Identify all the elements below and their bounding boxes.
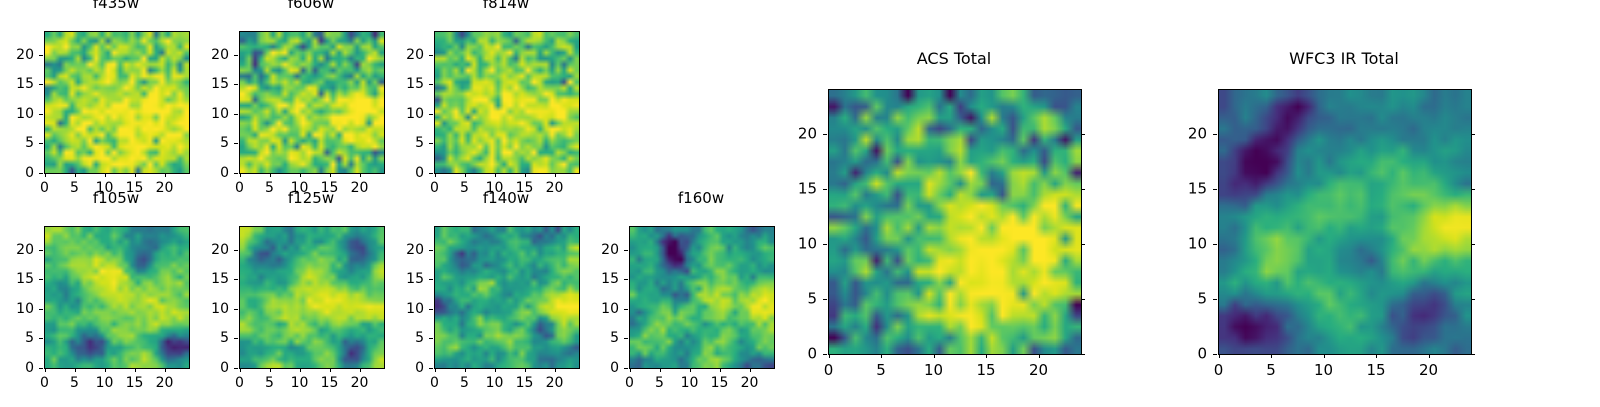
heatmap-canvas-f140w — [435, 227, 579, 368]
x-tick-label-f125w-20: 20 — [351, 376, 369, 390]
y-tick-right-acs-total-10 — [1081, 244, 1085, 245]
y-tick-label-f435w-15: 15 — [0, 77, 34, 91]
heatmap-canvas-f435w — [45, 32, 189, 173]
x-tick-label-wfc3-ir-total-0: 0 — [1214, 363, 1224, 378]
y-tick-f140w-10 — [429, 309, 433, 310]
y-tick-f160w-5 — [624, 338, 628, 339]
y-tick-label-f606w-15: 15 — [179, 77, 229, 91]
heatmap-canvas-f105w — [45, 227, 189, 368]
x-tick-label-f160w-15: 15 — [711, 376, 729, 390]
x-tick-label-f160w-10: 10 — [681, 376, 699, 390]
x-tick-f435w-0 — [45, 173, 46, 177]
y-tick-label-f125w-10: 10 — [179, 302, 229, 316]
y-tick-label-f435w-10: 10 — [0, 107, 34, 121]
panel-f814w: f814w0510152005101520 — [374, 0, 638, 212]
x-tick-label-f140w-20: 20 — [546, 376, 564, 390]
y-tick-label-acs-total-5: 5 — [768, 291, 817, 306]
x-tick-acs-total-15 — [986, 354, 987, 358]
x-tick-f105w-10 — [105, 368, 106, 372]
heatmap-canvas-acs-total — [829, 90, 1081, 354]
x-tick-f160w-20 — [750, 368, 751, 372]
panel-title-wfc3-ir-total: WFC3 IR Total — [1158, 51, 1530, 67]
x-tick-label-f105w-10: 10 — [96, 376, 114, 390]
y-tick-label-f606w-5: 5 — [179, 136, 229, 150]
y-tick-label-f606w-10: 10 — [179, 107, 229, 121]
panel-title-acs-total: ACS Total — [768, 51, 1140, 67]
y-tick-right-wfc3-ir-total-10 — [1471, 244, 1475, 245]
y-tick-label-acs-total-10: 10 — [768, 236, 817, 251]
x-tick-f435w-10 — [105, 173, 106, 177]
heatmap-wfc3-ir-total — [1218, 89, 1472, 355]
x-tick-label-acs-total-5: 5 — [876, 363, 886, 378]
y-tick-f814w-10 — [429, 114, 433, 115]
y-tick-f435w-20 — [39, 55, 43, 56]
y-tick-right-wfc3-ir-total-15 — [1471, 189, 1475, 190]
y-tick-wfc3-ir-total-15 — [1213, 189, 1217, 190]
y-tick-label-f125w-20: 20 — [179, 243, 229, 257]
y-tick-right-wfc3-ir-total-5 — [1471, 299, 1475, 300]
y-tick-right-acs-total-5 — [1081, 299, 1085, 300]
x-tick-label-wfc3-ir-total-5: 5 — [1266, 363, 1276, 378]
x-tick-label-f160w-20: 20 — [741, 376, 759, 390]
x-tick-f606w-20 — [360, 173, 361, 177]
x-tick-f140w-15 — [525, 368, 526, 372]
x-tick-label-f105w-15: 15 — [126, 376, 144, 390]
y-tick-f160w-0 — [624, 368, 628, 369]
y-tick-label-f105w-5: 5 — [0, 331, 34, 345]
y-tick-f606w-5 — [234, 143, 238, 144]
y-tick-acs-total-0 — [823, 354, 827, 355]
heatmap-f606w — [239, 31, 385, 174]
x-tick-wfc3-ir-total-15 — [1376, 354, 1377, 358]
x-tick-f125w-10 — [300, 368, 301, 372]
y-tick-f125w-5 — [234, 338, 238, 339]
x-tick-wfc3-ir-total-20 — [1429, 354, 1430, 358]
y-tick-right-wfc3-ir-total-20 — [1471, 134, 1475, 135]
x-tick-acs-total-20 — [1039, 354, 1040, 358]
heatmap-f814w — [434, 31, 580, 174]
y-tick-f105w-0 — [39, 368, 43, 369]
y-tick-label-f606w-0: 0 — [179, 166, 229, 180]
y-tick-label-f814w-0: 0 — [374, 166, 424, 180]
y-tick-f105w-20 — [39, 250, 43, 251]
y-tick-label-f435w-0: 0 — [0, 166, 34, 180]
x-tick-f160w-0 — [630, 368, 631, 372]
y-tick-label-wfc3-ir-total-5: 5 — [1158, 291, 1207, 306]
x-tick-f140w-5 — [465, 368, 466, 372]
x-tick-f160w-5 — [660, 368, 661, 372]
x-tick-f606w-0 — [240, 173, 241, 177]
y-tick-label-f140w-10: 10 — [374, 302, 424, 316]
y-tick-f606w-20 — [234, 55, 238, 56]
y-tick-f814w-20 — [429, 55, 433, 56]
x-tick-label-f160w-5: 5 — [655, 376, 664, 390]
panel-wfc3-ir-total: WFC3 IR Total0510152005101520 — [1158, 51, 1530, 393]
x-tick-label-f140w-10: 10 — [486, 376, 504, 390]
y-tick-label-acs-total-0: 0 — [768, 346, 817, 361]
y-tick-label-f125w-0: 0 — [179, 361, 229, 375]
x-tick-f160w-10 — [690, 368, 691, 372]
y-tick-f814w-15 — [429, 84, 433, 85]
y-tick-label-wfc3-ir-total-0: 0 — [1158, 346, 1207, 361]
y-tick-acs-total-5 — [823, 299, 827, 300]
y-tick-f160w-15 — [624, 279, 628, 280]
x-tick-f105w-0 — [45, 368, 46, 372]
heatmap-f160w — [629, 226, 775, 369]
y-tick-f140w-20 — [429, 250, 433, 251]
x-tick-f606w-5 — [270, 173, 271, 177]
x-tick-label-wfc3-ir-total-15: 15 — [1366, 363, 1385, 378]
x-tick-f125w-0 — [240, 368, 241, 372]
y-tick-wfc3-ir-total-10 — [1213, 244, 1217, 245]
heatmap-acs-total — [828, 89, 1082, 355]
y-tick-label-f105w-0: 0 — [0, 361, 34, 375]
y-tick-label-wfc3-ir-total-20: 20 — [1158, 126, 1207, 141]
y-tick-f160w-10 — [624, 309, 628, 310]
x-tick-f125w-15 — [330, 368, 331, 372]
x-tick-f814w-10 — [495, 173, 496, 177]
panel-title-f814w: f814w — [374, 0, 638, 11]
y-tick-label-f125w-5: 5 — [179, 331, 229, 345]
x-tick-label-f105w-20: 20 — [156, 376, 174, 390]
x-tick-label-f140w-5: 5 — [460, 376, 469, 390]
y-tick-label-f140w-15: 15 — [374, 272, 424, 286]
y-tick-label-f814w-15: 15 — [374, 77, 424, 91]
x-tick-f125w-5 — [270, 368, 271, 372]
y-tick-label-f140w-5: 5 — [374, 331, 424, 345]
y-tick-label-f105w-15: 15 — [0, 272, 34, 286]
y-tick-acs-total-10 — [823, 244, 827, 245]
y-tick-f435w-0 — [39, 173, 43, 174]
x-tick-label-f125w-5: 5 — [265, 376, 274, 390]
y-tick-label-f160w-20: 20 — [569, 243, 619, 257]
y-tick-label-f140w-0: 0 — [374, 361, 424, 375]
heatmap-f140w — [434, 226, 580, 369]
x-tick-label-acs-total-0: 0 — [824, 363, 834, 378]
y-tick-f606w-10 — [234, 114, 238, 115]
x-tick-f606w-10 — [300, 173, 301, 177]
x-tick-f105w-20 — [165, 368, 166, 372]
y-tick-right-acs-total-15 — [1081, 189, 1085, 190]
y-tick-f606w-15 — [234, 84, 238, 85]
y-tick-label-f814w-10: 10 — [374, 107, 424, 121]
x-tick-label-f125w-0: 0 — [235, 376, 244, 390]
heatmap-canvas-f125w — [240, 227, 384, 368]
x-tick-label-acs-total-15: 15 — [976, 363, 995, 378]
x-tick-f125w-20 — [360, 368, 361, 372]
x-tick-f105w-15 — [135, 368, 136, 372]
y-tick-wfc3-ir-total-0 — [1213, 354, 1217, 355]
y-tick-right-wfc3-ir-total-0 — [1471, 354, 1475, 355]
y-tick-acs-total-15 — [823, 189, 827, 190]
y-tick-label-f606w-20: 20 — [179, 48, 229, 62]
y-tick-f125w-20 — [234, 250, 238, 251]
y-tick-f140w-15 — [429, 279, 433, 280]
y-tick-f435w-10 — [39, 114, 43, 115]
y-tick-label-f160w-0: 0 — [569, 361, 619, 375]
heatmap-canvas-f814w — [435, 32, 579, 173]
y-tick-label-f105w-20: 20 — [0, 243, 34, 257]
x-tick-f435w-20 — [165, 173, 166, 177]
heatmap-canvas-wfc3-ir-total — [1219, 90, 1471, 354]
x-tick-label-f105w-0: 0 — [40, 376, 49, 390]
x-tick-f814w-20 — [555, 173, 556, 177]
y-tick-label-f814w-20: 20 — [374, 48, 424, 62]
y-tick-f140w-0 — [429, 368, 433, 369]
y-tick-label-wfc3-ir-total-15: 15 — [1158, 181, 1207, 196]
x-tick-f160w-15 — [720, 368, 721, 372]
x-tick-f140w-20 — [555, 368, 556, 372]
y-tick-label-f160w-5: 5 — [569, 331, 619, 345]
y-tick-f435w-5 — [39, 143, 43, 144]
y-tick-f606w-0 — [234, 173, 238, 174]
y-tick-f814w-5 — [429, 143, 433, 144]
x-tick-wfc3-ir-total-0 — [1219, 354, 1220, 358]
x-tick-f814w-15 — [525, 173, 526, 177]
heatmap-canvas-f160w — [630, 227, 774, 368]
x-tick-label-wfc3-ir-total-20: 20 — [1419, 363, 1438, 378]
y-tick-label-acs-total-15: 15 — [768, 181, 817, 196]
y-tick-f160w-20 — [624, 250, 628, 251]
x-tick-acs-total-10 — [934, 354, 935, 358]
y-tick-f125w-0 — [234, 368, 238, 369]
x-tick-wfc3-ir-total-10 — [1324, 354, 1325, 358]
y-tick-label-f435w-5: 5 — [0, 136, 34, 150]
x-tick-label-acs-total-20: 20 — [1029, 363, 1048, 378]
y-tick-f435w-15 — [39, 84, 43, 85]
x-tick-acs-total-5 — [881, 354, 882, 358]
x-tick-f606w-15 — [330, 173, 331, 177]
x-tick-f140w-0 — [435, 368, 436, 372]
y-tick-label-acs-total-20: 20 — [768, 126, 817, 141]
heatmap-f125w — [239, 226, 385, 369]
x-tick-label-wfc3-ir-total-10: 10 — [1314, 363, 1333, 378]
y-tick-f814w-0 — [429, 173, 433, 174]
x-tick-f140w-10 — [495, 368, 496, 372]
x-tick-f814w-5 — [465, 173, 466, 177]
y-tick-label-f814w-5: 5 — [374, 136, 424, 150]
y-tick-f105w-15 — [39, 279, 43, 280]
y-tick-f125w-15 — [234, 279, 238, 280]
panel-acs-total: ACS Total0510152005101520 — [768, 51, 1140, 393]
y-tick-label-f435w-20: 20 — [0, 48, 34, 62]
y-tick-f105w-5 — [39, 338, 43, 339]
x-tick-label-f105w-5: 5 — [70, 376, 79, 390]
heatmap-f105w — [44, 226, 190, 369]
y-tick-f125w-10 — [234, 309, 238, 310]
y-tick-label-f160w-15: 15 — [569, 272, 619, 286]
y-tick-label-wfc3-ir-total-10: 10 — [1158, 236, 1207, 251]
x-tick-label-f125w-15: 15 — [321, 376, 339, 390]
heatmap-canvas-f606w — [240, 32, 384, 173]
y-tick-wfc3-ir-total-20 — [1213, 134, 1217, 135]
y-tick-label-f125w-15: 15 — [179, 272, 229, 286]
x-tick-f105w-5 — [75, 368, 76, 372]
y-tick-f140w-5 — [429, 338, 433, 339]
x-tick-label-acs-total-10: 10 — [924, 363, 943, 378]
x-tick-f435w-15 — [135, 173, 136, 177]
x-tick-label-f160w-0: 0 — [625, 376, 634, 390]
y-tick-label-f105w-10: 10 — [0, 302, 34, 316]
x-tick-wfc3-ir-total-5 — [1271, 354, 1272, 358]
x-tick-f814w-0 — [435, 173, 436, 177]
y-tick-f105w-10 — [39, 309, 43, 310]
y-tick-label-f140w-20: 20 — [374, 243, 424, 257]
x-tick-f435w-5 — [75, 173, 76, 177]
x-tick-label-f125w-10: 10 — [291, 376, 309, 390]
y-tick-right-acs-total-0 — [1081, 354, 1085, 355]
x-tick-acs-total-0 — [829, 354, 830, 358]
x-tick-label-f140w-15: 15 — [516, 376, 534, 390]
x-tick-label-f140w-0: 0 — [430, 376, 439, 390]
y-tick-label-f160w-10: 10 — [569, 302, 619, 316]
y-tick-acs-total-20 — [823, 134, 827, 135]
heatmap-f435w — [44, 31, 190, 174]
y-tick-wfc3-ir-total-5 — [1213, 299, 1217, 300]
y-tick-right-acs-total-20 — [1081, 134, 1085, 135]
